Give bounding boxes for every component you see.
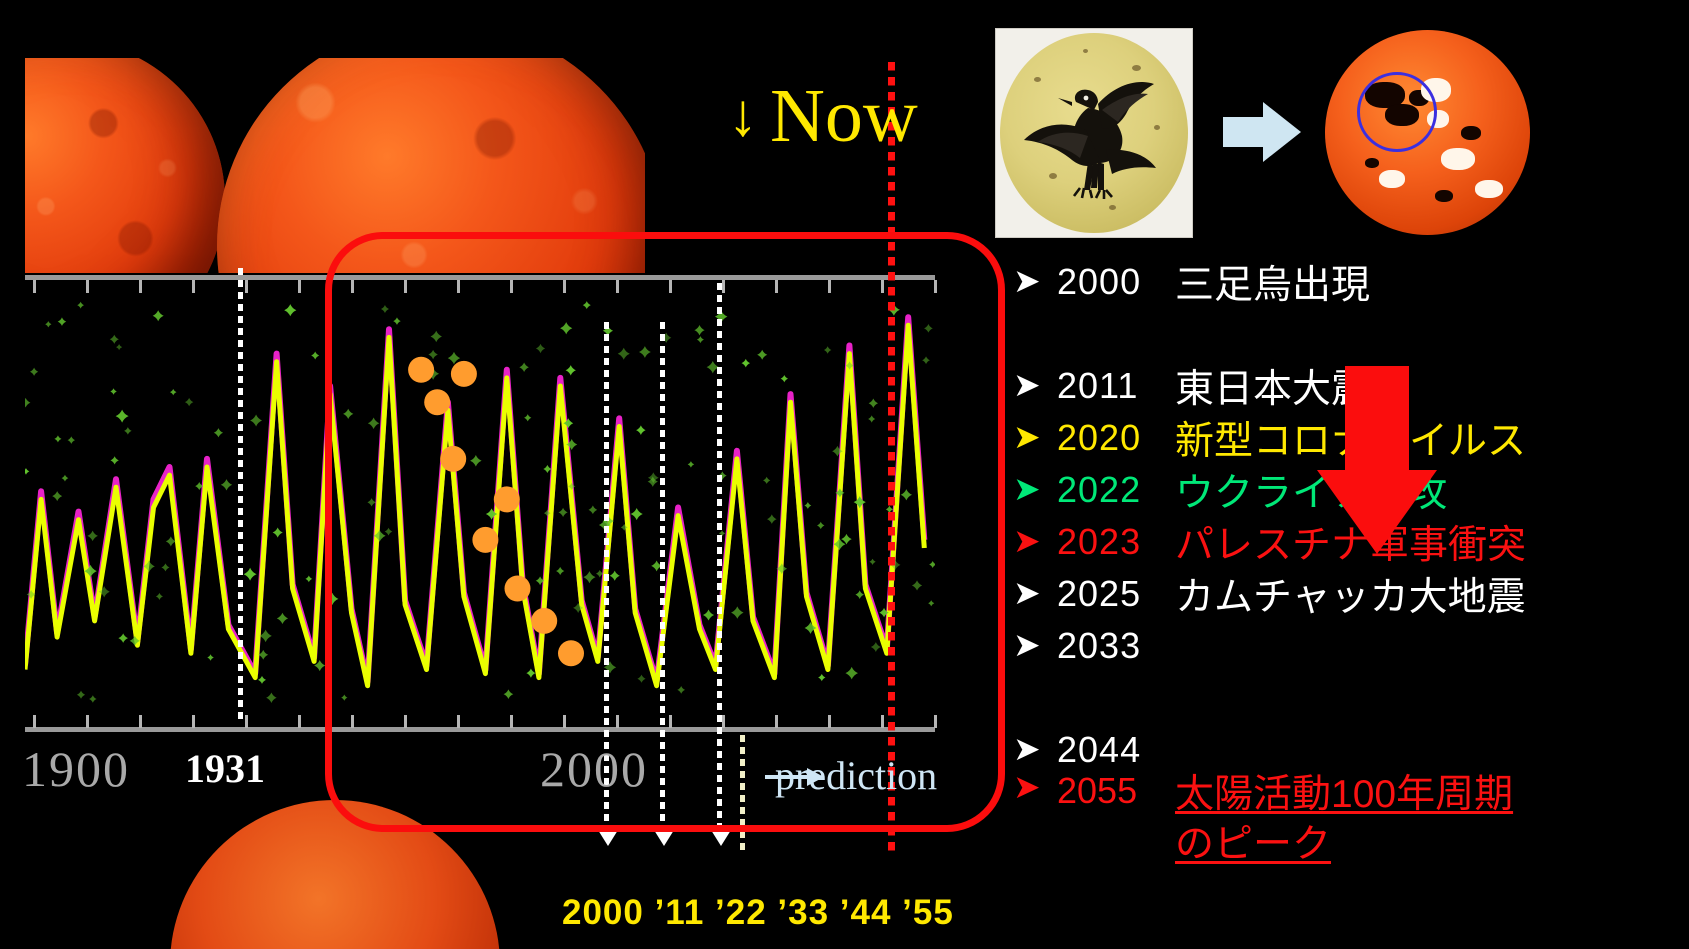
future-year-ticks: 2000 ’11 ’22 ’33 ’44 ’55 bbox=[562, 893, 954, 933]
slide-root: ↓Now 1900 1931 2000 prediction 2000 ’11 … bbox=[0, 0, 1689, 949]
scatter-marker bbox=[428, 350, 437, 359]
bullet-icon: ➤ bbox=[1013, 630, 1057, 663]
scatter-marker bbox=[368, 418, 380, 430]
event-row: ➤2033 bbox=[1013, 620, 1673, 672]
orange-marker bbox=[451, 361, 477, 387]
scatter-marker bbox=[166, 536, 176, 546]
scatter-marker bbox=[818, 674, 825, 681]
sun-mottle bbox=[217, 58, 645, 273]
red-down-arrow-icon bbox=[1317, 366, 1437, 552]
scatter-marker bbox=[922, 356, 930, 364]
scatter-marker bbox=[854, 496, 866, 508]
final-event-row: ➤ 2055 太陽活動100年周期 のピーク bbox=[1013, 770, 1689, 870]
now-label: ↓Now bbox=[728, 78, 918, 154]
final-event-text: 太陽活動100年周期 のピーク bbox=[1175, 770, 1513, 870]
scatter-marker bbox=[524, 414, 531, 421]
bullet-icon: ➤ bbox=[1013, 770, 1057, 806]
scatter-marker bbox=[731, 606, 743, 618]
sun-image-main bbox=[217, 58, 645, 273]
sun-photo-strip bbox=[25, 58, 645, 273]
scatter-marker bbox=[901, 489, 912, 500]
right-panel: ➤2000三足烏出現➤2011東日本大震災➤2020新型コロナウイルス➤2022… bbox=[995, 18, 1675, 938]
scatter-marker bbox=[639, 346, 651, 358]
scatter-marker bbox=[924, 324, 933, 333]
scatter-marker bbox=[110, 335, 119, 344]
scatter-marker bbox=[869, 559, 875, 565]
bullet-icon: ➤ bbox=[1013, 422, 1057, 455]
scatter-marker bbox=[161, 563, 169, 571]
scatter-marker bbox=[703, 609, 714, 620]
orange-marker bbox=[531, 608, 557, 634]
prediction-label: prediction bbox=[775, 752, 937, 799]
scatter-marker bbox=[431, 331, 442, 342]
sun-mottle bbox=[25, 58, 225, 273]
chart-curves bbox=[25, 275, 935, 732]
scatter-marker bbox=[207, 654, 213, 660]
final-event-line2: のピーク bbox=[1175, 820, 1513, 870]
scatter-marker bbox=[928, 600, 934, 606]
scatter-marker bbox=[221, 479, 232, 490]
scatter-marker bbox=[583, 301, 591, 309]
scatter-marker bbox=[58, 317, 67, 326]
orange-marker bbox=[558, 640, 584, 666]
scatter-marker bbox=[118, 633, 128, 643]
scatter-marker bbox=[631, 508, 643, 520]
scatter-marker bbox=[558, 508, 567, 517]
scatter-marker bbox=[52, 491, 62, 501]
orange-marker bbox=[494, 486, 520, 512]
sun-image-left bbox=[25, 58, 225, 273]
scatter-marker bbox=[87, 531, 98, 542]
scatter-marker bbox=[62, 475, 69, 482]
bullet-icon: ➤ bbox=[1013, 266, 1057, 299]
event-row bbox=[1013, 308, 1673, 360]
scatter-marker bbox=[543, 465, 551, 473]
orange-marker bbox=[440, 446, 466, 472]
final-event-line1: 太陽活動100年周期 bbox=[1175, 770, 1513, 820]
marker-arrow-2000 bbox=[598, 830, 618, 846]
scatter-marker bbox=[536, 344, 545, 353]
scatter-marker bbox=[871, 642, 881, 652]
scatter-marker bbox=[757, 350, 767, 360]
event-row: ➤2000三足烏出現 bbox=[1013, 256, 1673, 308]
event-year: 2011 bbox=[1057, 365, 1175, 407]
scatter-marker bbox=[25, 398, 30, 408]
scatter-marker bbox=[556, 567, 564, 575]
scatter-marker bbox=[54, 435, 61, 442]
event-text: 三足烏出現 bbox=[1175, 254, 1370, 310]
scatter-marker bbox=[110, 388, 116, 394]
scatter-marker bbox=[45, 321, 51, 327]
scatter-marker bbox=[470, 455, 482, 467]
scatter-marker bbox=[381, 305, 389, 313]
scatter-marker bbox=[259, 630, 271, 642]
vline-2022 bbox=[717, 283, 722, 832]
bullet-icon: ➤ bbox=[1013, 578, 1057, 611]
axis-label-1900: 1900 bbox=[22, 740, 130, 798]
blue-right-arrow-icon bbox=[1223, 102, 1301, 162]
scatter-marker bbox=[504, 689, 514, 699]
scatter-marker bbox=[273, 527, 283, 537]
scatter-marker bbox=[25, 468, 29, 475]
vline-2033 bbox=[740, 735, 745, 855]
scatter-marker bbox=[343, 409, 353, 419]
event-year: 2025 bbox=[1057, 573, 1175, 615]
scatter-marker bbox=[566, 365, 576, 375]
vline-2055 bbox=[888, 62, 895, 852]
scatter-marker bbox=[845, 667, 858, 680]
scatter-marker bbox=[185, 398, 193, 406]
scatter-marker bbox=[618, 348, 630, 360]
orange-marker bbox=[505, 576, 531, 602]
sunspot-disc bbox=[1325, 30, 1530, 235]
scatter-marker bbox=[284, 304, 296, 316]
bullet-icon: ➤ bbox=[1013, 474, 1057, 507]
scatter-marker bbox=[250, 415, 262, 427]
scatter-marker bbox=[116, 410, 129, 423]
solar-cycle-chart bbox=[25, 275, 935, 735]
scatter-marker bbox=[305, 575, 312, 582]
scatter-marker bbox=[393, 317, 401, 325]
orange-marker bbox=[424, 389, 450, 415]
scatter-marker bbox=[929, 561, 935, 568]
scatter-marker bbox=[311, 352, 319, 360]
scatter-marker bbox=[367, 498, 375, 506]
event-row bbox=[1013, 672, 1673, 724]
event-year: 2000 bbox=[1057, 261, 1175, 303]
axis-label-2000: 2000 bbox=[540, 740, 648, 798]
sun-image-bottom bbox=[170, 800, 500, 949]
bullet-icon: ➤ bbox=[1013, 526, 1057, 559]
scatter-marker bbox=[817, 522, 824, 529]
scatter-marker bbox=[804, 502, 811, 509]
final-event-year: 2055 bbox=[1057, 770, 1175, 812]
scatter-marker bbox=[637, 675, 645, 683]
scatter-marker bbox=[688, 461, 695, 468]
scatter-marker bbox=[560, 322, 572, 334]
scatter-marker bbox=[341, 695, 347, 701]
scatter-marker bbox=[77, 691, 85, 699]
sunspot-plot-svg bbox=[25, 275, 935, 732]
axis-label-1931: 1931 bbox=[185, 745, 265, 792]
orange-marker bbox=[472, 527, 498, 553]
scatter-marker bbox=[912, 580, 922, 590]
scatter-marker bbox=[763, 477, 770, 484]
scatter-marker bbox=[742, 359, 751, 368]
scatter-marker bbox=[77, 302, 84, 309]
three-legged-crow-artifact bbox=[995, 28, 1193, 238]
scatter-marker bbox=[583, 571, 595, 583]
scatter-marker bbox=[170, 389, 176, 395]
event-year: 2020 bbox=[1057, 417, 1175, 459]
scatter-marker bbox=[781, 375, 788, 382]
scatter-marker bbox=[244, 568, 257, 581]
event-year: 2022 bbox=[1057, 469, 1175, 511]
marker-arrow-2011 bbox=[654, 830, 674, 846]
down-arrow-icon: ↓ bbox=[728, 82, 758, 148]
scatter-marker bbox=[677, 686, 685, 694]
scatter-marker bbox=[258, 650, 268, 660]
scatter-marker bbox=[519, 363, 528, 372]
scatter-marker bbox=[326, 593, 338, 605]
scatter-marker bbox=[824, 346, 831, 353]
scatter-marker bbox=[610, 571, 620, 581]
scatter-marker bbox=[855, 590, 864, 599]
scatter-marker bbox=[110, 456, 118, 464]
scatter-marker bbox=[767, 514, 777, 524]
orange-marker bbox=[408, 357, 434, 383]
event-row: ➤2025カムチャッカ大地震 bbox=[1013, 568, 1673, 620]
crow-glyph bbox=[1014, 58, 1174, 208]
scatter-marker bbox=[868, 415, 875, 422]
event-year: 2044 bbox=[1057, 729, 1175, 771]
bullet-icon: ➤ bbox=[1013, 370, 1057, 403]
sunspot-highlight-circle bbox=[1357, 72, 1437, 152]
scatter-marker bbox=[385, 528, 393, 536]
vline-2011 bbox=[660, 322, 665, 832]
bullet-icon: ➤ bbox=[1013, 734, 1057, 767]
scatter-marker bbox=[153, 310, 164, 321]
now-text: Now bbox=[770, 74, 918, 158]
sun-with-sunspot-image bbox=[1325, 30, 1530, 235]
scatter-marker bbox=[89, 695, 96, 702]
scatter-marker bbox=[156, 593, 163, 600]
event-row: ➤2044 bbox=[1013, 724, 1673, 776]
scatter-marker bbox=[68, 436, 75, 443]
scatter-marker bbox=[589, 505, 598, 514]
scatter-marker bbox=[116, 344, 122, 350]
scatter-marker bbox=[694, 325, 704, 335]
scatter-marker bbox=[124, 427, 132, 435]
scatter-marker bbox=[869, 399, 878, 408]
artifact-disc bbox=[1000, 33, 1188, 233]
scatter-marker bbox=[266, 693, 276, 703]
scatter-marker bbox=[258, 676, 266, 684]
event-text: カムチャッカ大地震 bbox=[1175, 566, 1526, 622]
vline-1931 bbox=[238, 268, 243, 723]
event-year: 2023 bbox=[1057, 521, 1175, 563]
scatter-marker bbox=[277, 613, 288, 624]
event-year: 2033 bbox=[1057, 625, 1175, 667]
scatter-marker bbox=[526, 669, 535, 678]
scatter-marker bbox=[214, 428, 223, 437]
scatter-marker bbox=[636, 425, 646, 435]
scatter-marker bbox=[697, 336, 704, 343]
marker-arrow-2022 bbox=[711, 830, 731, 846]
scatter-marker bbox=[30, 368, 38, 376]
